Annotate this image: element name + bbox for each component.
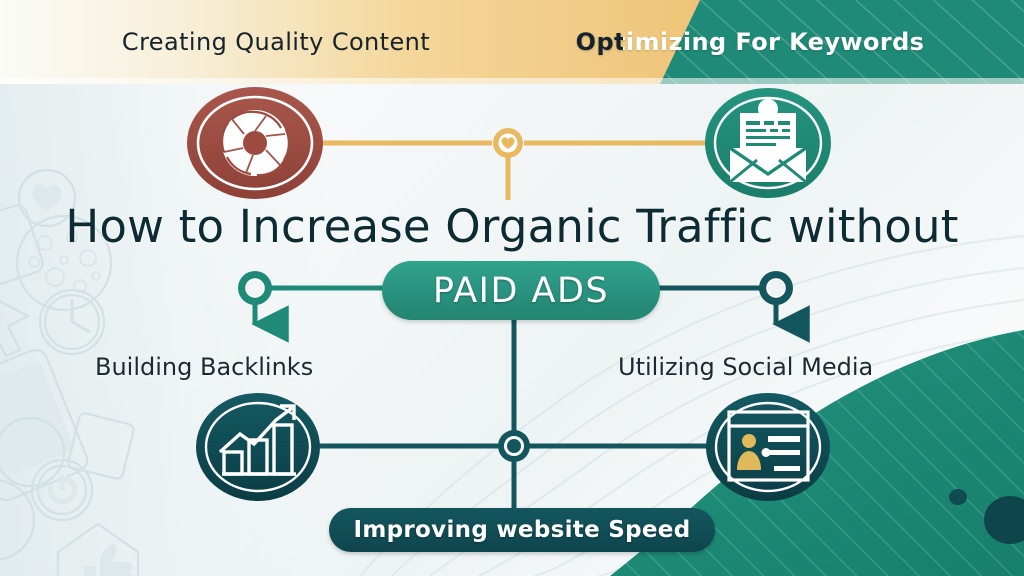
envelope-newsletter-icon[interactable] xyxy=(705,88,831,198)
infographic-canvas: Creating Quality Content Optimizing For … xyxy=(0,0,1024,576)
connector-teal-left xyxy=(255,288,392,324)
hub-node-center[interactable] xyxy=(498,430,530,462)
heart-node[interactable] xyxy=(493,128,523,158)
connector-bottom xyxy=(318,320,712,512)
improving-website-speed-pill[interactable]: Improving website Speed xyxy=(329,508,715,552)
ring-node-left[interactable] xyxy=(238,271,272,305)
paid-ads-pill[interactable]: PAID ADS xyxy=(382,261,660,320)
page-title: How to Increase Organic Traffic without xyxy=(0,200,1024,253)
growth-bar-chart-icon[interactable] xyxy=(196,393,320,501)
aperture-icon[interactable] xyxy=(187,87,323,199)
social-profile-window-icon[interactable] xyxy=(706,393,830,501)
connector-teal-right xyxy=(652,288,776,324)
label-building-backlinks: Building Backlinks xyxy=(95,353,313,381)
ring-node-right[interactable] xyxy=(759,271,793,305)
label-utilizing-social-media: Utilizing Social Media xyxy=(618,353,873,381)
